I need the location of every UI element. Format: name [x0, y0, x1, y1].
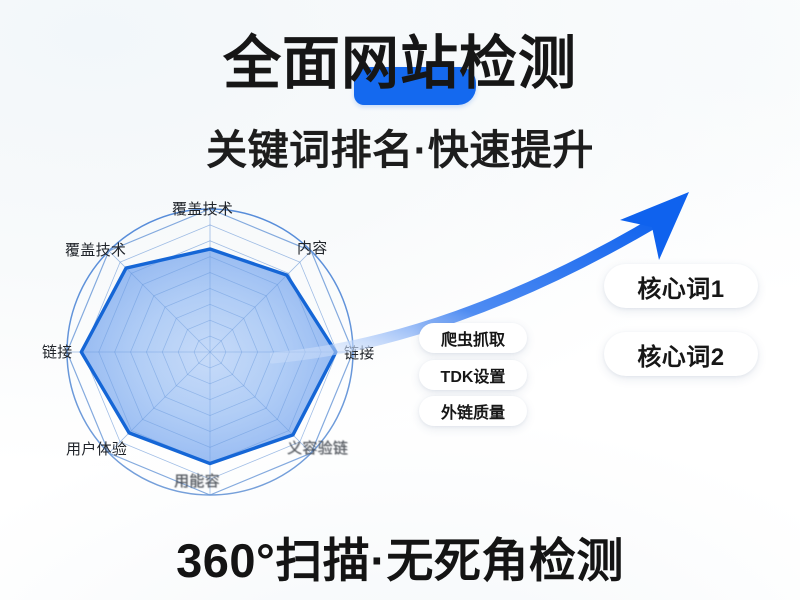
- pill-tdk[interactable]: TDK设置: [419, 360, 527, 390]
- title-segment-1: 全面: [223, 31, 341, 96]
- page-subtitle: 关键词排名·快速提升: [0, 116, 800, 176]
- radar-axis-label-5: 用户体验: [66, 438, 127, 459]
- pill-keyword-2[interactable]: 核心词2: [604, 332, 758, 376]
- radar-axis-label-4: 用能容: [174, 470, 220, 491]
- title-segment-3: 检测: [459, 31, 577, 96]
- pill-backlink[interactable]: 外链质量: [419, 396, 527, 426]
- radar-axis-label-1: 内容: [297, 237, 328, 258]
- title-text: 全面网站检测: [223, 34, 577, 94]
- page-footer-line: 360°扫描·无死角检测: [0, 522, 800, 591]
- radar-axis-label-6: 链接: [42, 341, 73, 362]
- page-title: 全面网站检测: [0, 34, 800, 94]
- radar-chart: 覆盖技术 内容 链接 义容验链 用能容 用户体验 链接 覆盖技术: [20, 192, 410, 522]
- poster-canvas: 全面网站检测 关键词排名·快速提升 覆盖技术 内容 链接 义容验链 用能: [0, 0, 800, 600]
- pill-crawl[interactable]: 爬虫抓取: [419, 323, 527, 353]
- title-segment-2-highlighted: 网站: [341, 31, 459, 96]
- pill-keyword-1[interactable]: 核心词1: [604, 264, 758, 308]
- radar-axis-label-7: 覆盖技术: [65, 239, 126, 260]
- radar-axis-label-2: 链接: [344, 342, 375, 363]
- radar-axis-label-0: 覆盖技术: [172, 198, 233, 219]
- arrow-head: [620, 192, 689, 260]
- radar-axis-label-3: 义容验链: [287, 437, 348, 458]
